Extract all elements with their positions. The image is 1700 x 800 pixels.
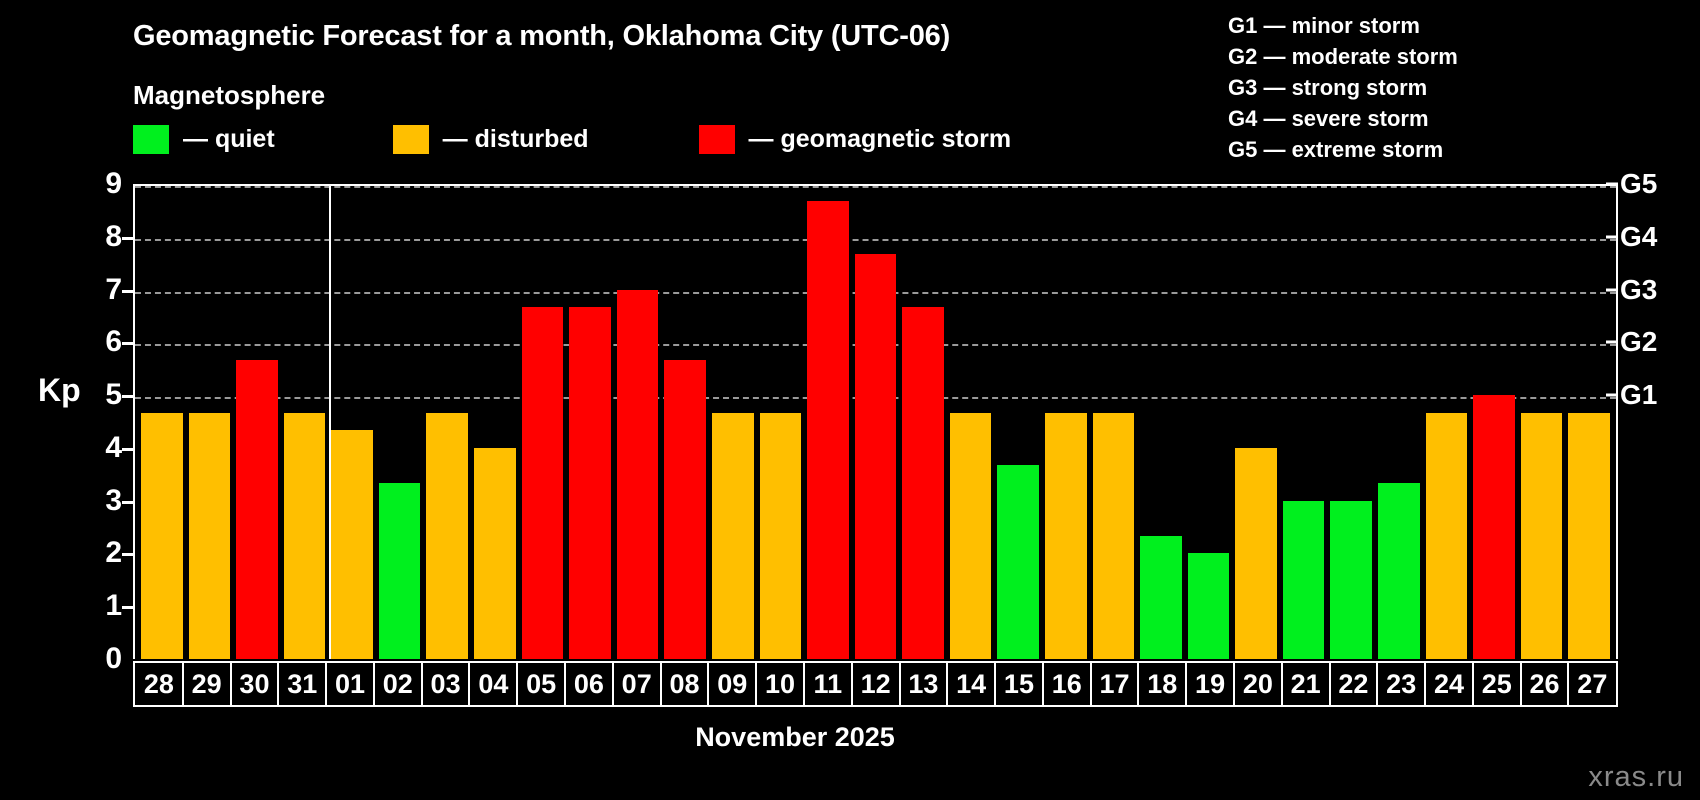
date-cell-13[interactable]: 13 <box>901 663 949 705</box>
date-cell-27[interactable]: 27 <box>1569 663 1615 705</box>
bar-day-30[interactable] <box>236 360 278 659</box>
bar-day-25[interactable] <box>1473 395 1515 659</box>
g-label-G2: G2 <box>1620 326 1657 358</box>
y-tick-mark-2 <box>122 553 133 556</box>
date-cell-22[interactable]: 22 <box>1331 663 1379 705</box>
date-cell-25[interactable]: 25 <box>1474 663 1522 705</box>
date-cell-28[interactable]: 28 <box>136 663 184 705</box>
magnetosphere-legend: — quiet— disturbed— geomagnetic storm <box>133 125 1011 154</box>
date-cell-31[interactable]: 31 <box>279 663 327 705</box>
bar-day-01[interactable] <box>331 430 373 659</box>
date-cell-02[interactable]: 02 <box>375 663 423 705</box>
bar-day-05[interactable] <box>522 307 564 659</box>
bar-day-20[interactable] <box>1235 448 1277 659</box>
gscale-legend-item-4: G4 — severe storm <box>1228 103 1458 134</box>
bar-day-21[interactable] <box>1283 501 1325 659</box>
y-tick-label-9: 9 <box>82 167 122 201</box>
x-axis-label: November 2025 <box>0 722 1700 753</box>
x-axis-label-text: November 2025 <box>695 722 895 753</box>
date-cell-03[interactable]: 03 <box>423 663 471 705</box>
g-tick-mark-G4 <box>1606 235 1618 238</box>
date-cell-04[interactable]: 04 <box>470 663 518 705</box>
bar-slot <box>1137 186 1185 659</box>
bar-day-08[interactable] <box>664 360 706 659</box>
bar-day-14[interactable] <box>950 413 992 659</box>
gscale-legend: G1 — minor stormG2 — moderate stormG3 — … <box>1228 10 1458 165</box>
bar-day-11[interactable] <box>807 201 849 659</box>
y-tick-mark-6 <box>122 342 133 345</box>
bar-slot <box>138 186 186 659</box>
bar-day-17[interactable] <box>1093 413 1135 659</box>
bar-slot <box>1375 186 1423 659</box>
watermark: xras.ru <box>1588 761 1684 794</box>
date-axis: 2829303101020304050607080910111213141516… <box>133 661 1618 707</box>
bar-day-06[interactable] <box>569 307 611 659</box>
bar-day-28[interactable] <box>141 413 183 659</box>
legend-entry-0: — quiet <box>133 125 275 154</box>
orange-swatch <box>393 125 429 154</box>
bar-day-13[interactable] <box>902 307 944 659</box>
bar-slot <box>1280 186 1328 659</box>
y-tick-label-1: 1 <box>82 589 122 623</box>
y-tick-mark-5 <box>122 395 133 398</box>
date-cell-06[interactable]: 06 <box>566 663 614 705</box>
bar-day-07[interactable] <box>617 290 659 659</box>
date-cell-24[interactable]: 24 <box>1426 663 1474 705</box>
bar-slot <box>233 186 281 659</box>
g-tick-mark-G1 <box>1606 394 1618 397</box>
bar-day-22[interactable] <box>1330 501 1372 659</box>
y-tick-label-0: 0 <box>82 642 122 676</box>
bar-slot <box>186 186 234 659</box>
date-cell-07[interactable]: 07 <box>614 663 662 705</box>
legend-label: — geomagnetic storm <box>749 125 1012 154</box>
date-cell-11[interactable]: 11 <box>805 663 853 705</box>
bar-slot <box>423 186 471 659</box>
y-tick-label-7: 7 <box>82 273 122 307</box>
bar-slot <box>661 186 709 659</box>
bar-slot <box>376 186 424 659</box>
g-tick-mark-G5 <box>1606 183 1618 186</box>
legend-entry-2: — geomagnetic storm <box>699 125 1012 154</box>
red-swatch <box>699 125 735 154</box>
date-cell-26[interactable]: 26 <box>1522 663 1570 705</box>
bar-day-18[interactable] <box>1140 536 1182 659</box>
bar-day-24[interactable] <box>1426 413 1468 659</box>
g-label-G5: G5 <box>1620 168 1657 200</box>
y-tick-label-8: 8 <box>82 220 122 254</box>
bar-day-27[interactable] <box>1568 413 1610 659</box>
bar-slot <box>994 186 1042 659</box>
date-cell-15[interactable]: 15 <box>996 663 1044 705</box>
bars-layer <box>135 186 1616 659</box>
y-tick-label-3: 3 <box>82 484 122 518</box>
bar-day-12[interactable] <box>855 254 897 659</box>
g-label-G1: G1 <box>1620 379 1657 411</box>
bar-day-19[interactable] <box>1188 553 1230 659</box>
date-cell-05[interactable]: 05 <box>518 663 566 705</box>
date-cell-30[interactable]: 30 <box>232 663 280 705</box>
page-title: Geomagnetic Forecast for a month, Oklaho… <box>133 20 950 53</box>
legend-entry-1: — disturbed <box>393 125 589 154</box>
date-cell-19[interactable]: 19 <box>1187 663 1235 705</box>
date-cell-09[interactable]: 09 <box>709 663 757 705</box>
date-cell-16[interactable]: 16 <box>1044 663 1092 705</box>
date-cell-01[interactable]: 01 <box>327 663 375 705</box>
magnetosphere-heading: Magnetosphere <box>133 80 325 111</box>
bar-slot <box>1185 186 1233 659</box>
bar-day-10[interactable] <box>760 413 802 659</box>
bar-slot <box>757 186 805 659</box>
date-cell-10[interactable]: 10 <box>757 663 805 705</box>
bar-day-04[interactable] <box>474 448 516 659</box>
date-cell-08[interactable]: 08 <box>662 663 710 705</box>
bar-slot <box>852 186 900 659</box>
gscale-legend-item-2: G2 — moderate storm <box>1228 41 1458 72</box>
bar-slot <box>709 186 757 659</box>
date-cell-17[interactable]: 17 <box>1092 663 1140 705</box>
bar-day-16[interactable] <box>1045 413 1087 659</box>
plot-inner <box>135 186 1616 659</box>
g-label-G4: G4 <box>1620 221 1657 253</box>
bar-slot <box>566 186 614 659</box>
y-tick-label-2: 2 <box>82 536 122 570</box>
y-axis-ticks: 0123456789 <box>60 184 122 659</box>
date-cell-12[interactable]: 12 <box>853 663 901 705</box>
bar-day-31[interactable] <box>284 413 326 659</box>
bar-slot <box>804 186 852 659</box>
bar-slot <box>1518 186 1566 659</box>
bar-slot <box>1042 186 1090 659</box>
date-cell-18[interactable]: 18 <box>1139 663 1187 705</box>
legend-label: — quiet <box>183 125 275 154</box>
bar-slot <box>614 186 662 659</box>
bar-day-15[interactable] <box>997 465 1039 659</box>
bar-slot <box>471 186 519 659</box>
gscale-legend-item-3: G3 — strong storm <box>1228 72 1458 103</box>
date-cell-23[interactable]: 23 <box>1378 663 1426 705</box>
bar-slot <box>281 186 329 659</box>
bar-day-23[interactable] <box>1378 483 1420 659</box>
date-cell-14[interactable]: 14 <box>948 663 996 705</box>
g-scale-axis: G1G2G3G4G5 <box>1620 184 1700 659</box>
y-tick-label-4: 4 <box>82 431 122 465</box>
y-tick-mark-8 <box>122 237 133 240</box>
bar-slot <box>1565 186 1613 659</box>
g-tick-mark-G3 <box>1606 288 1618 291</box>
y-tick-mark-7 <box>122 290 133 293</box>
y-tick-label-6: 6 <box>82 325 122 359</box>
bar-slot <box>328 186 376 659</box>
gscale-legend-item-1: G1 — minor storm <box>1228 10 1458 41</box>
y-tick-mark-4 <box>122 448 133 451</box>
y-tick-mark-3 <box>122 501 133 504</box>
legend-label: — disturbed <box>443 125 589 154</box>
g-label-G3: G3 <box>1620 274 1657 306</box>
y-tick-label-5: 5 <box>82 378 122 412</box>
bar-slot <box>519 186 567 659</box>
green-swatch <box>133 125 169 154</box>
bar-day-29[interactable] <box>189 413 231 659</box>
y-tick-mark-1 <box>122 606 133 609</box>
date-cell-21[interactable]: 21 <box>1283 663 1331 705</box>
plot-area <box>133 184 1618 659</box>
gscale-legend-item-5: G5 — extreme storm <box>1228 134 1458 165</box>
bar-slot <box>1232 186 1280 659</box>
bar-slot <box>947 186 995 659</box>
date-cell-20[interactable]: 20 <box>1235 663 1283 705</box>
bar-slot <box>1327 186 1375 659</box>
bar-slot <box>899 186 947 659</box>
bar-slot <box>1423 186 1471 659</box>
bar-day-26[interactable] <box>1521 413 1563 659</box>
bar-day-02[interactable] <box>379 483 421 659</box>
g-tick-mark-G2 <box>1606 341 1618 344</box>
date-cell-29[interactable]: 29 <box>184 663 232 705</box>
bar-day-03[interactable] <box>426 413 468 659</box>
bar-slot <box>1090 186 1138 659</box>
bar-day-09[interactable] <box>712 413 754 659</box>
bar-slot <box>1470 186 1518 659</box>
